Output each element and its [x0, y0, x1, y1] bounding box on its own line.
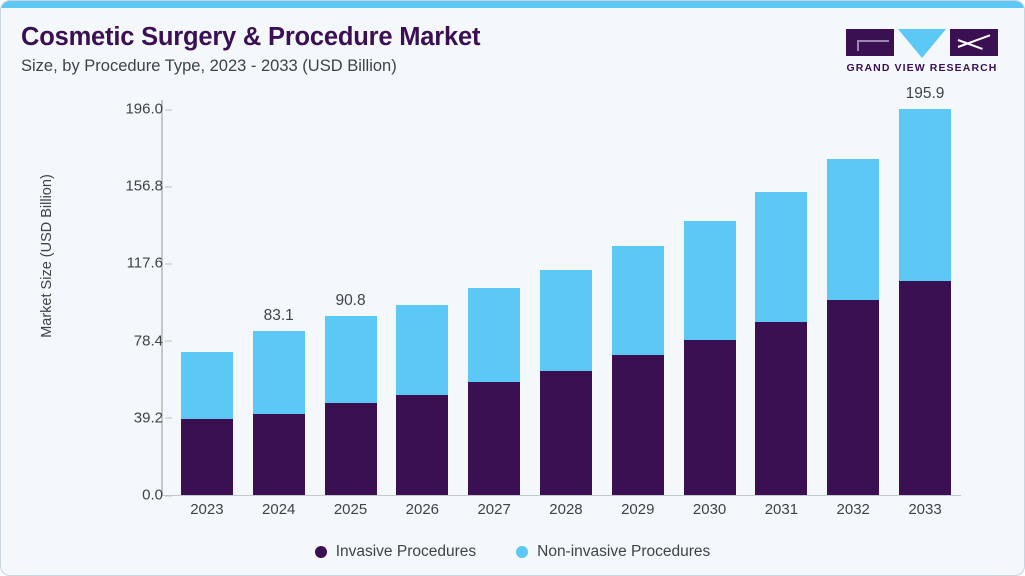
- bar-value-label: 195.9: [906, 85, 945, 103]
- bar-segment-non-invasive[interactable]: [684, 221, 736, 340]
- plot-canvas: 83.190.8195.9 0.039.278.4117.6156.8196.0: [171, 109, 961, 495]
- bar-segment-non-invasive[interactable]: [899, 109, 951, 281]
- legend-label: Non-invasive Procedures: [537, 543, 710, 561]
- stacked-bar[interactable]: [181, 352, 233, 495]
- top-accent-bar: [1, 1, 1024, 8]
- bar-slot[interactable]: 90.8: [315, 109, 387, 495]
- logo-wordmark: GRAND VIEW RESEARCH: [846, 62, 998, 74]
- chart-legend: Invasive ProceduresNon-invasive Procedur…: [1, 543, 1024, 561]
- bar-slot[interactable]: 83.1: [243, 109, 315, 495]
- legend-item[interactable]: Non-invasive Procedures: [516, 543, 710, 561]
- bar-segment-non-invasive[interactable]: [325, 316, 377, 403]
- x-tick-label: 2024: [243, 501, 315, 518]
- bar-segment-non-invasive[interactable]: [540, 270, 592, 372]
- logo-triangle-icon: [898, 29, 946, 58]
- bar-segment-invasive[interactable]: [899, 281, 951, 495]
- stacked-bar[interactable]: [612, 246, 664, 495]
- bar-segment-invasive[interactable]: [540, 371, 592, 495]
- y-tick-label: 117.6: [93, 255, 163, 272]
- bar-value-label: 90.8: [335, 292, 365, 310]
- x-tick-label: 2029: [602, 501, 674, 518]
- stacked-bar[interactable]: [325, 316, 377, 495]
- x-tick-label: 2030: [674, 501, 746, 518]
- y-axis-line: [161, 100, 163, 495]
- logo-marks: [846, 29, 998, 57]
- bar-segment-non-invasive[interactable]: [181, 352, 233, 419]
- stacked-bar[interactable]: [755, 192, 807, 495]
- chart-header: Cosmetic Surgery & Procedure Market Size…: [21, 23, 1004, 87]
- bar-segment-invasive[interactable]: [612, 355, 664, 495]
- x-axis-ticks: 2023202420252026202720282029203020312032…: [171, 501, 961, 518]
- x-tick-label: 2033: [889, 501, 961, 518]
- x-tick-label: 2025: [315, 501, 387, 518]
- x-tick-label: 2027: [458, 501, 530, 518]
- bar-segment-invasive[interactable]: [827, 300, 879, 495]
- bar-segment-invasive[interactable]: [253, 414, 305, 495]
- x-tick-label: 2026: [386, 501, 458, 518]
- logo-square-left-icon: [846, 29, 894, 56]
- x-tick-label: 2028: [530, 501, 602, 518]
- y-tick-label: 0.0: [93, 487, 163, 504]
- y-tick-label: 39.2: [93, 409, 163, 426]
- bar-group: 83.190.8195.9: [171, 109, 961, 495]
- bar-segment-invasive[interactable]: [396, 395, 448, 495]
- bar-slot[interactable]: [386, 109, 458, 495]
- legend-item[interactable]: Invasive Procedures: [315, 543, 476, 561]
- stacked-bar[interactable]: [899, 109, 951, 495]
- bar-slot[interactable]: [458, 109, 530, 495]
- y-tick-label: 196.0: [93, 101, 163, 118]
- stacked-bar[interactable]: [253, 331, 305, 495]
- legend-color-swatch-icon: [315, 546, 327, 558]
- stacked-bar[interactable]: [396, 305, 448, 495]
- bar-segment-non-invasive[interactable]: [396, 305, 448, 395]
- chart-plot-area: Market Size (USD Billion) 83.190.8195.9 …: [1, 93, 1025, 513]
- bar-segment-non-invasive[interactable]: [612, 246, 664, 355]
- stacked-bar[interactable]: [684, 221, 736, 495]
- y-tick-label: 156.8: [93, 178, 163, 195]
- bar-slot[interactable]: [746, 109, 818, 495]
- bar-segment-invasive[interactable]: [684, 340, 736, 495]
- y-tick-label: 78.4: [93, 332, 163, 349]
- bar-slot[interactable]: [674, 109, 746, 495]
- x-tick-label: 2031: [746, 501, 818, 518]
- bar-slot[interactable]: [602, 109, 674, 495]
- bar-segment-non-invasive[interactable]: [253, 331, 305, 413]
- legend-color-swatch-icon: [516, 546, 528, 558]
- brand-logo: GRAND VIEW RESEARCH: [846, 29, 998, 74]
- bar-slot[interactable]: [817, 109, 889, 495]
- legend-label: Invasive Procedures: [336, 543, 476, 561]
- chart-card: Cosmetic Surgery & Procedure Market Size…: [0, 0, 1025, 576]
- stacked-bar[interactable]: [468, 288, 520, 495]
- x-tick-label: 2032: [817, 501, 889, 518]
- bar-segment-invasive[interactable]: [325, 403, 377, 495]
- x-tick-label: 2023: [171, 501, 243, 518]
- bar-slot[interactable]: [171, 109, 243, 495]
- bar-value-label: 83.1: [264, 307, 294, 325]
- bar-segment-invasive[interactable]: [468, 382, 520, 495]
- bar-slot[interactable]: [530, 109, 602, 495]
- bar-segment-non-invasive[interactable]: [468, 288, 520, 382]
- bar-segment-non-invasive[interactable]: [827, 159, 879, 300]
- bar-segment-invasive[interactable]: [755, 322, 807, 496]
- bar-segment-invasive[interactable]: [181, 419, 233, 495]
- y-axis-label: Market Size (USD Billion): [39, 106, 55, 406]
- stacked-bar[interactable]: [827, 159, 879, 495]
- stacked-bar[interactable]: [540, 270, 592, 495]
- bar-slot[interactable]: 195.9: [889, 109, 961, 495]
- bar-segment-non-invasive[interactable]: [755, 192, 807, 322]
- logo-square-right-icon: [950, 29, 998, 56]
